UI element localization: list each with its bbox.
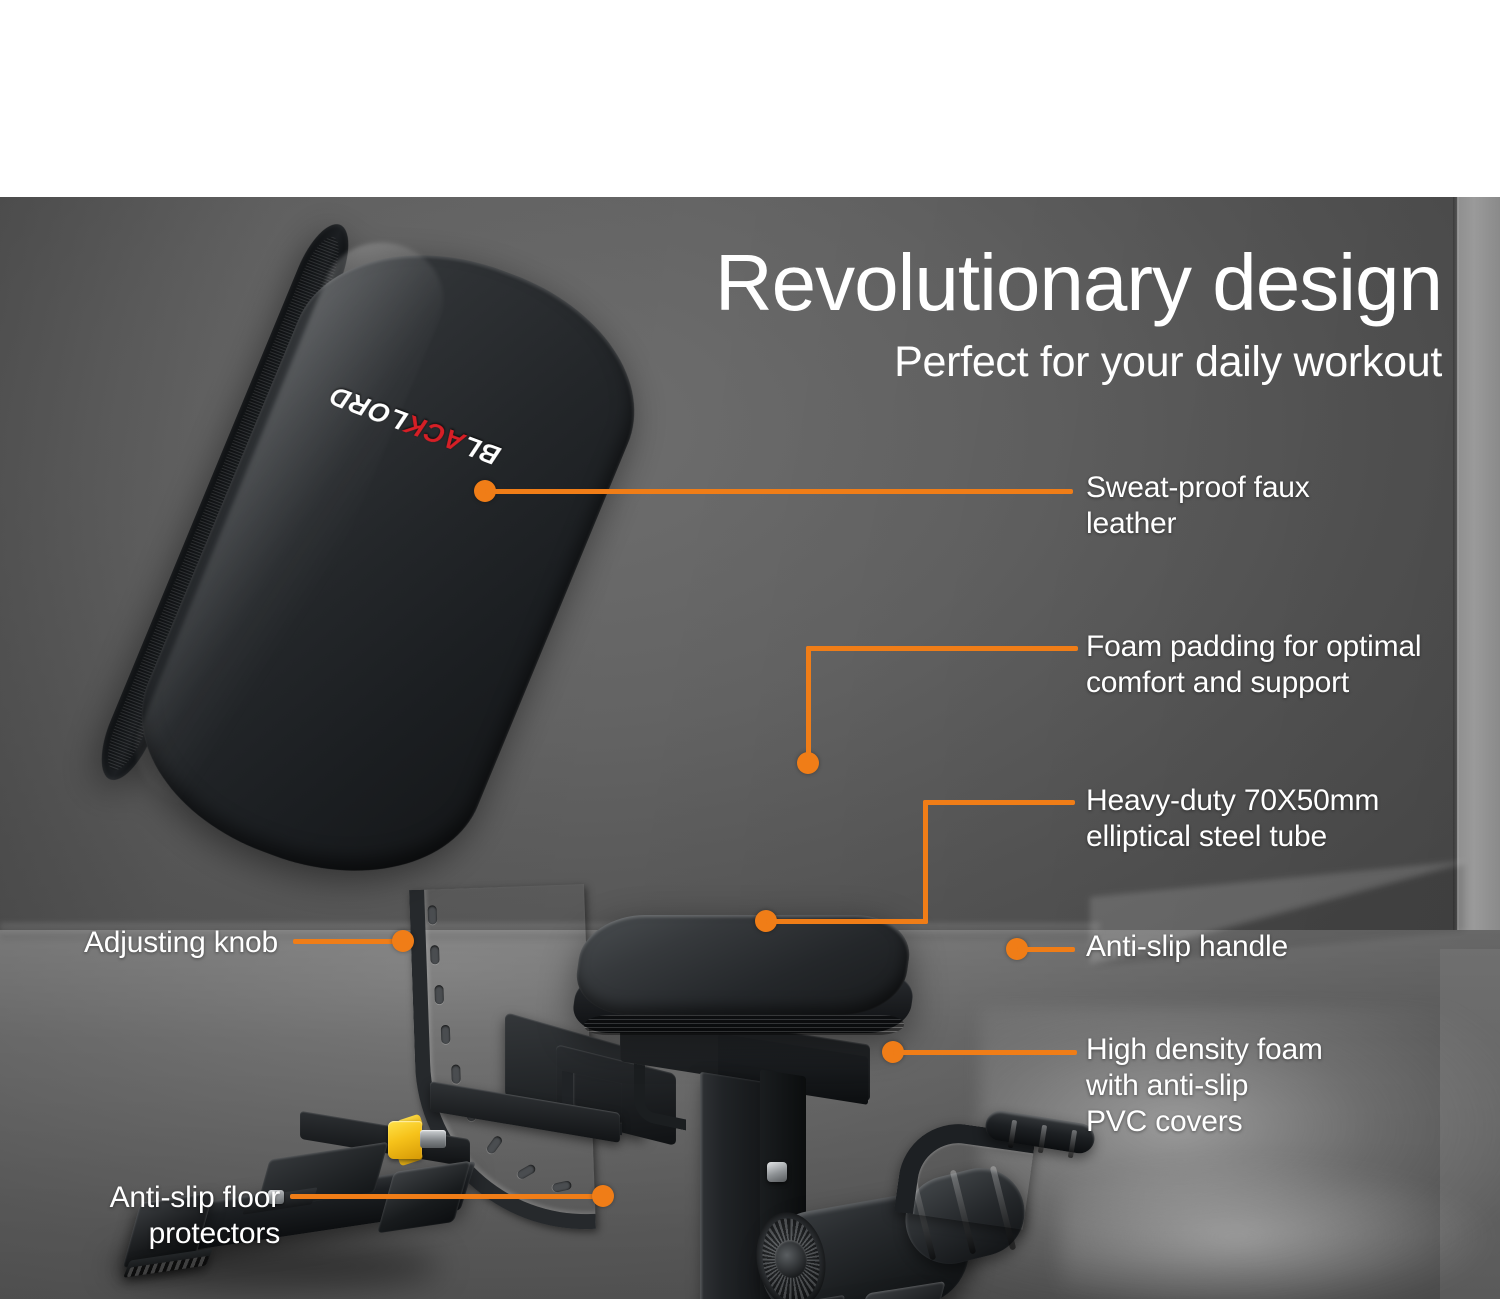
callout-line-2: elliptical steel tube [1086, 819, 1486, 855]
callout-line-foam-padding-vertical [806, 646, 811, 758]
callout-label-heavy-duty-steel-tube: Heavy-duty 70X50mm elliptical steel tube [1086, 783, 1486, 855]
callout-line-high-density-foam [893, 1050, 1077, 1055]
callout-dot-anti-slip-floor-protectors[interactable] [592, 1185, 614, 1207]
adjusting-knob-part[interactable] [382, 1117, 438, 1163]
callout-line-1: High density foam [1086, 1032, 1486, 1068]
callout-label-anti-slip-handle: Anti-slip handle [1086, 929, 1466, 965]
callout-line-sweat-proof-faux-leather [485, 489, 1073, 494]
callout-line-adjusting-knob [293, 939, 405, 944]
callout-line-foam-padding-horizontal [806, 646, 1078, 651]
center-support-post [700, 1072, 766, 1299]
callout-line-steel-tube-h2 [923, 800, 1075, 805]
callout-line-anti-slip-handle [1017, 947, 1075, 952]
knob-stem [420, 1130, 446, 1148]
callout-line-1: Anti-slip floor [30, 1180, 280, 1216]
seat-stitch-ribs [583, 1015, 906, 1035]
ladder-hole [430, 945, 440, 964]
callout-label-high-density-foam: High density foam with anti-slip PVC cov… [1086, 1032, 1486, 1140]
callout-label-sweat-proof-faux-leather: Sweat-proof faux leather [1086, 470, 1466, 542]
ladder-hole [434, 985, 444, 1004]
callout-label-anti-slip-floor-protectors: Anti-slip floor protectors [30, 1180, 280, 1252]
callout-line-steel-tube-h1 [766, 919, 928, 924]
knob-body [388, 1121, 422, 1159]
callout-line-2: leather [1086, 506, 1466, 542]
seat-top-surface [571, 915, 915, 1015]
page-subtitle: Perfect for your daily workout [715, 339, 1442, 386]
callout-dot-adjusting-knob[interactable] [392, 930, 414, 952]
seat-pad [570, 915, 920, 1041]
callout-line-1: Foam padding for optimal [1086, 629, 1486, 665]
callout-line-2: with anti-slip [1086, 1068, 1486, 1104]
callout-line-1: Adjusting knob [28, 925, 278, 961]
backrest-pad: BLACKLORD [103, 211, 673, 915]
ladder-hole [451, 1064, 461, 1083]
ladder-hole [441, 1025, 451, 1044]
callout-line-anti-slip-floor-protectors [290, 1194, 602, 1199]
callout-line-3: PVC covers [1086, 1104, 1486, 1140]
callout-line-2: comfort and support [1086, 665, 1486, 701]
callout-line-2: protectors [30, 1216, 280, 1252]
headline-block: Revolutionary design Perfect for your da… [715, 243, 1442, 386]
callout-line-1: Sweat-proof faux [1086, 470, 1466, 506]
callout-label-adjusting-knob: Adjusting knob [28, 925, 278, 961]
callout-label-foam-padding: Foam padding for optimal comfort and sup… [1086, 629, 1486, 701]
top-white-band [0, 0, 1500, 197]
callout-line-steel-tube-v [923, 800, 928, 924]
post-bolt-upper [767, 1162, 787, 1182]
callout-line-1: Anti-slip handle [1086, 929, 1466, 965]
page-title: Revolutionary design [715, 243, 1442, 323]
callout-line-1: Heavy-duty 70X50mm [1086, 783, 1486, 819]
